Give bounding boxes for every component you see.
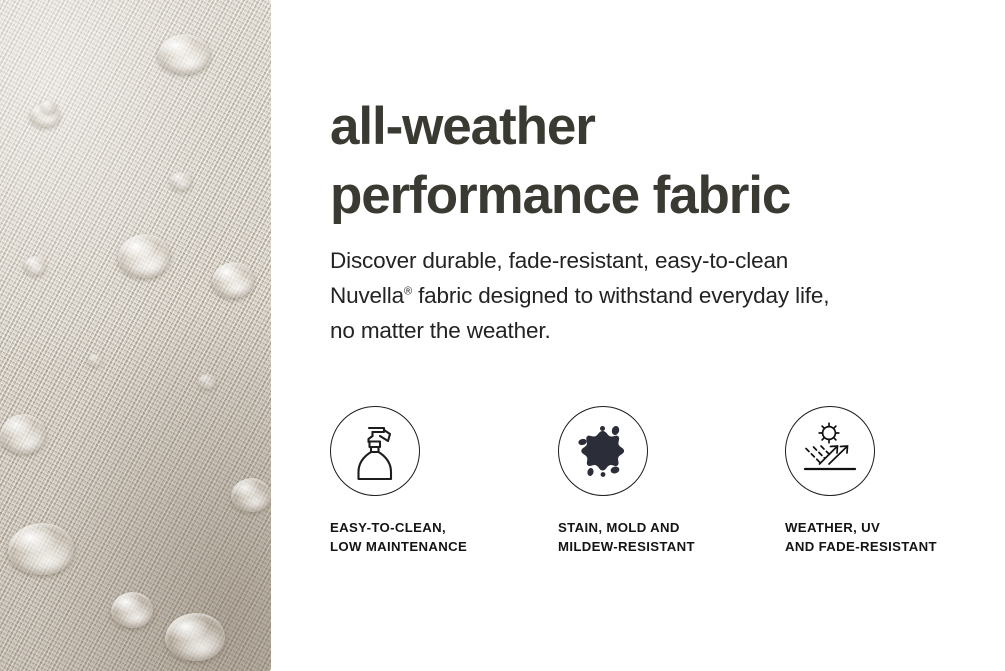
sun-uv-reflect-icon — [785, 406, 875, 496]
banner-description: Discover durable, fade-resistant, easy-t… — [330, 243, 950, 348]
water-droplet — [111, 592, 153, 628]
registered-trademark-symbol: ® — [404, 286, 412, 298]
water-droplet — [40, 100, 56, 113]
fabric-water-droplets-photo — [0, 0, 271, 671]
feature-stain-resistant: STAIN, MOLD AND MILDEW-RESISTANT — [558, 406, 768, 556]
banner-content: all-weather performance fabric Discover … — [330, 0, 990, 671]
water-droplet — [165, 613, 225, 661]
stain-splat-icon — [558, 406, 648, 496]
promo-banner: all-weather performance fabric Discover … — [0, 0, 1005, 671]
feature-label: WEATHER, UV AND FADE-RESISTANT — [785, 518, 995, 556]
water-droplet — [198, 374, 216, 389]
water-droplet — [88, 354, 102, 366]
feature-label: EASY-TO-CLEAN, LOW MAINTENANCE — [330, 518, 540, 556]
feature-weather-uv-resistant: WEATHER, UV AND FADE-RESISTANT — [785, 406, 995, 556]
water-droplet — [170, 172, 192, 190]
water-droplet — [24, 256, 46, 275]
feature-easy-to-clean: EASY-TO-CLEAN, LOW MAINTENANCE — [330, 406, 540, 556]
water-droplet — [8, 523, 74, 575]
water-droplet — [158, 34, 210, 74]
feature-label: STAIN, MOLD AND MILDEW-RESISTANT — [558, 518, 768, 556]
water-droplet — [118, 234, 170, 278]
water-droplet — [231, 478, 271, 512]
water-droplet — [0, 414, 46, 454]
feature-list: EASY-TO-CLEAN, LOW MAINTENANCE STAIN, M — [330, 406, 990, 576]
spray-bottle-icon — [330, 406, 420, 496]
water-droplet — [212, 262, 254, 298]
page-title: all-weather performance fabric — [330, 92, 980, 230]
